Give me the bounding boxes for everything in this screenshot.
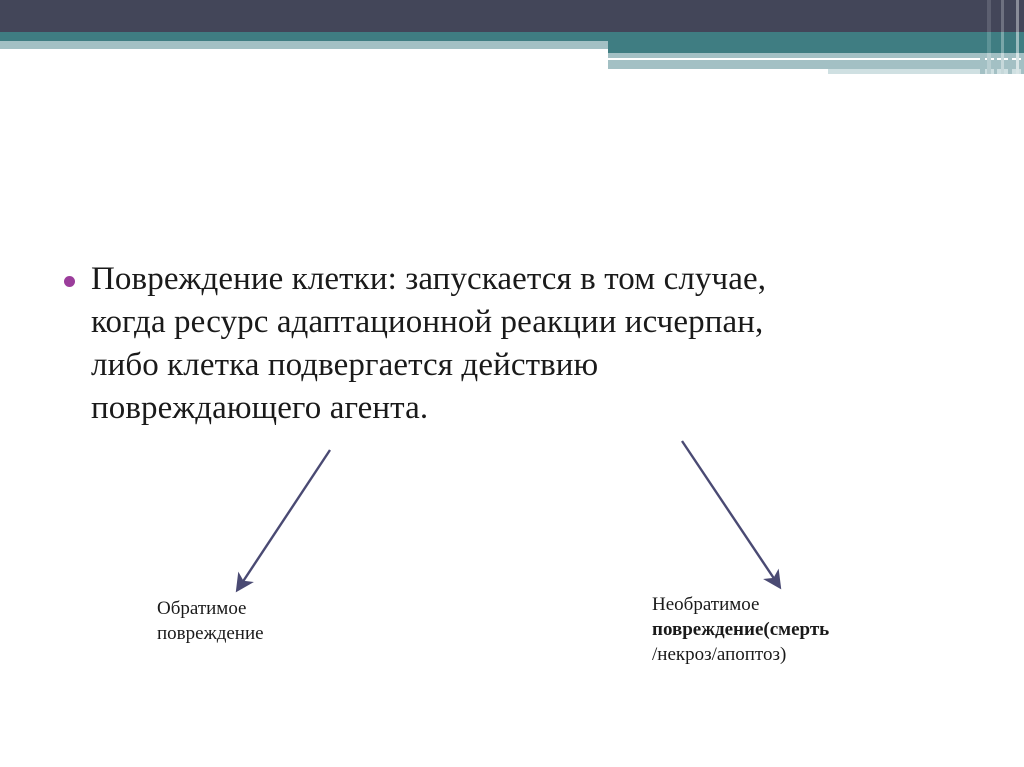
branch-label-irreversible-line1: Необратимое (652, 592, 942, 617)
branch-label-irreversible-line3: /некроз/апоптоз) (652, 642, 942, 667)
bullet-dot-icon (64, 276, 75, 287)
branch-label-reversible-line1: Обратимое (157, 596, 417, 621)
branch-label-reversible: Обратимое повреждение (157, 596, 417, 646)
branch-label-irreversible: Необратимое повреждение(смерть /некроз/а… (652, 592, 942, 667)
slide-content: Повреждение клетки: запускается в том сл… (0, 0, 1024, 767)
bullet-item: Повреждение клетки: запускается в том сл… (64, 258, 804, 430)
arrow-to-irreversible (682, 441, 777, 583)
arrow-to-reversible (240, 450, 330, 586)
branch-label-reversible-line2: повреждение (157, 621, 417, 646)
slide-canvas: Повреждение клетки: запускается в том сл… (0, 0, 1024, 767)
branch-label-irreversible-line2: повреждение(смерть (652, 617, 942, 642)
bullet-text: Повреждение клетки: запускается в том сл… (91, 258, 804, 430)
